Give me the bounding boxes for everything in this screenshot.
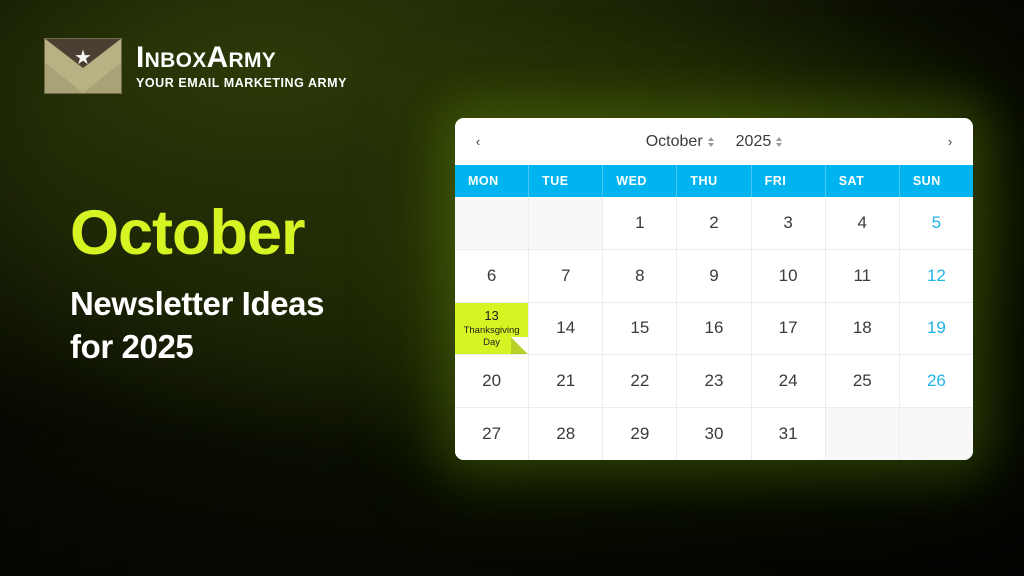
headline-line-1: Newsletter Ideas <box>70 282 470 325</box>
calendar-day-cell[interactable]: 4 <box>826 197 900 249</box>
day-number: 27 <box>482 424 501 444</box>
day-number: 2 <box>709 213 718 233</box>
day-number: 10 <box>779 266 798 286</box>
day-of-week-header: MONTUEWEDTHUFRISATSUN <box>455 165 973 197</box>
calendar-day-cell[interactable]: 1 <box>603 197 677 249</box>
calendar-day-cell[interactable]: 28 <box>529 408 603 460</box>
day-number: 15 <box>630 318 649 338</box>
day-header-thu: THU <box>677 165 751 197</box>
next-month-icon[interactable]: › <box>941 133 959 151</box>
calendar-period-selectors: October 2025 <box>455 118 973 165</box>
calendar-day-cell[interactable]: 7 <box>529 250 603 302</box>
calendar-week-row: 2728293031 <box>455 408 973 460</box>
day-number: 22 <box>630 371 649 391</box>
month-label: October <box>646 133 703 151</box>
day-number: 20 <box>482 371 501 391</box>
day-number: 21 <box>556 371 575 391</box>
brand-name: InboxArmy <box>136 42 347 74</box>
day-number: 29 <box>630 424 649 444</box>
calendar-day-cell[interactable]: 29 <box>603 408 677 460</box>
calendar-day-cell[interactable]: 9 <box>677 250 751 302</box>
prev-month-icon[interactable]: ‹ <box>469 133 487 151</box>
calendar-week-row: 6789101112 <box>455 250 973 303</box>
brand-text: InboxArmy YOUR EMAIL MARKETING ARMY <box>136 42 347 91</box>
headline-subtitle: Newsletter Ideas for 2025 <box>70 282 470 368</box>
month-stepper-icon[interactable] <box>708 137 714 147</box>
calendar-day-cell[interactable]: 22 <box>603 355 677 407</box>
calendar-day-cell[interactable]: 11 <box>826 250 900 302</box>
day-number: 23 <box>705 371 724 391</box>
day-number: 14 <box>556 318 575 338</box>
calendar-day-cell[interactable]: 6 <box>455 250 529 302</box>
day-number: 1 <box>635 213 644 233</box>
calendar-day-cell[interactable]: 24 <box>752 355 826 407</box>
day-number: 19 <box>927 318 946 338</box>
envelope-star-icon <box>44 38 122 94</box>
headline-line-2: for 2025 <box>70 325 470 368</box>
calendar-day-cell[interactable]: 8 <box>603 250 677 302</box>
day-number: 9 <box>709 266 718 286</box>
month-select[interactable]: October <box>646 133 714 151</box>
calendar-day-cell[interactable]: 13Thanksgiving Day <box>455 303 529 355</box>
brand-tagline: YOUR EMAIL MARKETING ARMY <box>136 75 347 91</box>
calendar-day-cell[interactable]: 14 <box>529 303 603 355</box>
day-number: 12 <box>927 266 946 286</box>
calendar-day-cell[interactable]: 10 <box>752 250 826 302</box>
calendar-day-cell[interactable]: 20 <box>455 355 529 407</box>
day-number: 3 <box>783 213 792 233</box>
headline-month: October <box>70 198 470 268</box>
day-header-wed: WED <box>603 165 677 197</box>
day-number: 30 <box>705 424 724 444</box>
day-number: 7 <box>561 266 570 286</box>
poster-canvas: InboxArmy YOUR EMAIL MARKETING ARMY Octo… <box>0 0 1024 576</box>
day-number: 16 <box>705 318 724 338</box>
day-number: 24 <box>779 371 798 391</box>
calendar-widget: ‹ October 2025 › MONTUEWEDTHUFRISATSUN 1… <box>455 118 973 460</box>
folded-corner-icon <box>511 337 528 354</box>
day-header-fri: FRI <box>752 165 826 197</box>
day-header-sun: SUN <box>900 165 973 197</box>
calendar-day-cell[interactable]: 18 <box>826 303 900 355</box>
calendar-day-cell[interactable]: 27 <box>455 408 529 460</box>
calendar-day-cell[interactable]: 2 <box>677 197 751 249</box>
year-label: 2025 <box>736 133 772 151</box>
day-number: 25 <box>853 371 872 391</box>
calendar-day-cell[interactable]: 19 <box>900 303 973 355</box>
calendar-day-cell[interactable]: 26 <box>900 355 973 407</box>
calendar-day-cell[interactable]: 3 <box>752 197 826 249</box>
calendar-header: ‹ October 2025 › <box>455 118 973 165</box>
day-number: 26 <box>927 371 946 391</box>
calendar-cell-empty <box>455 197 529 249</box>
calendar-day-cell[interactable]: 12 <box>900 250 973 302</box>
calendar-day-cell[interactable]: 21 <box>529 355 603 407</box>
day-number: 18 <box>853 318 872 338</box>
calendar-day-cell[interactable]: 23 <box>677 355 751 407</box>
calendar-day-cell[interactable]: 5 <box>900 197 973 249</box>
day-number: 13 <box>484 308 498 324</box>
calendar-day-cell[interactable]: 30 <box>677 408 751 460</box>
calendar-cell-empty <box>826 408 900 460</box>
day-header-mon: MON <box>455 165 529 197</box>
page-title: October Newsletter Ideas for 2025 <box>70 198 470 368</box>
calendar-grid: 12345678910111213Thanksgiving Day1415161… <box>455 197 973 460</box>
calendar-week-row: 12345 <box>455 197 973 250</box>
day-number: 6 <box>487 266 496 286</box>
year-select[interactable]: 2025 <box>736 133 783 151</box>
calendar-day-cell[interactable]: 17 <box>752 303 826 355</box>
calendar-day-cell[interactable]: 16 <box>677 303 751 355</box>
day-number: 4 <box>858 213 867 233</box>
brand-logo: InboxArmy YOUR EMAIL MARKETING ARMY <box>44 38 347 94</box>
day-number: 28 <box>556 424 575 444</box>
day-number: 8 <box>635 266 644 286</box>
calendar-day-cell[interactable]: 25 <box>826 355 900 407</box>
calendar-week-row: 13Thanksgiving Day141516171819 <box>455 303 973 356</box>
calendar-cell-empty <box>900 408 973 460</box>
year-stepper-icon[interactable] <box>776 137 782 147</box>
day-header-tue: TUE <box>529 165 603 197</box>
day-number: 17 <box>779 318 798 338</box>
day-number: 31 <box>779 424 798 444</box>
calendar-day-cell[interactable]: 31 <box>752 408 826 460</box>
day-number: 11 <box>853 266 871 286</box>
day-number: 5 <box>932 213 941 233</box>
calendar-cell-empty <box>529 197 603 249</box>
day-header-sat: SAT <box>826 165 900 197</box>
calendar-week-row: 20212223242526 <box>455 355 973 408</box>
calendar-day-cell[interactable]: 15 <box>603 303 677 355</box>
